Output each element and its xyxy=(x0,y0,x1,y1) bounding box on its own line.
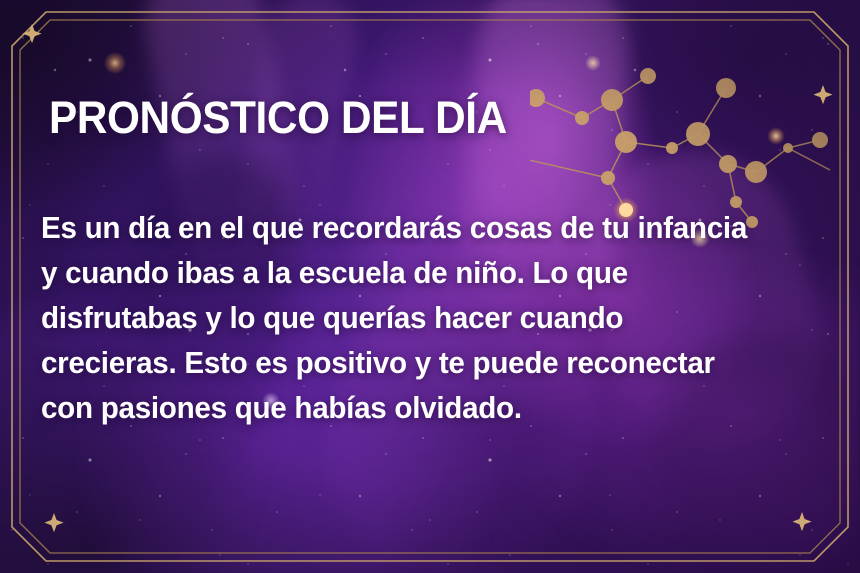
forecast-body-text: Es un día en el que recordarás cosas de … xyxy=(41,205,841,430)
page-title: PRONÓSTICO DEL DÍA xyxy=(49,92,507,144)
body-line: con pasiones que habías olvidado. xyxy=(41,385,805,430)
body-line: disfrutabas y lo que querías hacer cuand… xyxy=(41,295,805,340)
body-line: Es un día en el que recordarás cosas de … xyxy=(41,205,805,250)
card-content: PRONÓSTICO DEL DÍA Es un día en el que r… xyxy=(0,0,860,573)
body-line: y cuando ibas a la escuela de niño. Lo q… xyxy=(41,250,805,295)
horoscope-card: PRONÓSTICO DEL DÍA Es un día en el que r… xyxy=(0,0,860,573)
body-line: crecieras. Esto es positivo y te puede r… xyxy=(41,340,805,385)
